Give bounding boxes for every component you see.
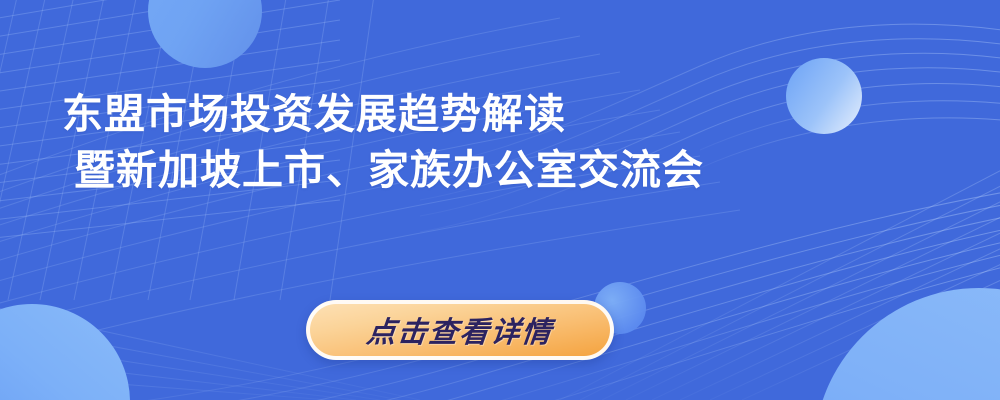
bottom-left-circle <box>0 304 130 400</box>
headline-line-2: 暨新加坡上市、家族办公室交流会 <box>74 142 704 198</box>
top-circle <box>148 0 262 68</box>
bottom-right-circle <box>814 288 1000 400</box>
headline-line-1: 东盟市场投资发展趋势解读 <box>62 86 704 142</box>
view-details-button[interactable]: 点击查看详情 <box>306 300 614 360</box>
view-details-button-label: 点击查看详情 <box>365 309 555 351</box>
cta-button-wrapper: 点击查看详情 <box>306 300 614 360</box>
right-circle <box>786 58 862 134</box>
banner-headline: 东盟市场投资发展趋势解读 暨新加坡上市、家族办公室交流会 <box>62 86 704 198</box>
promo-banner: 东盟市场投资发展趋势解读 暨新加坡上市、家族办公室交流会 点击查看详情 <box>0 0 1000 400</box>
